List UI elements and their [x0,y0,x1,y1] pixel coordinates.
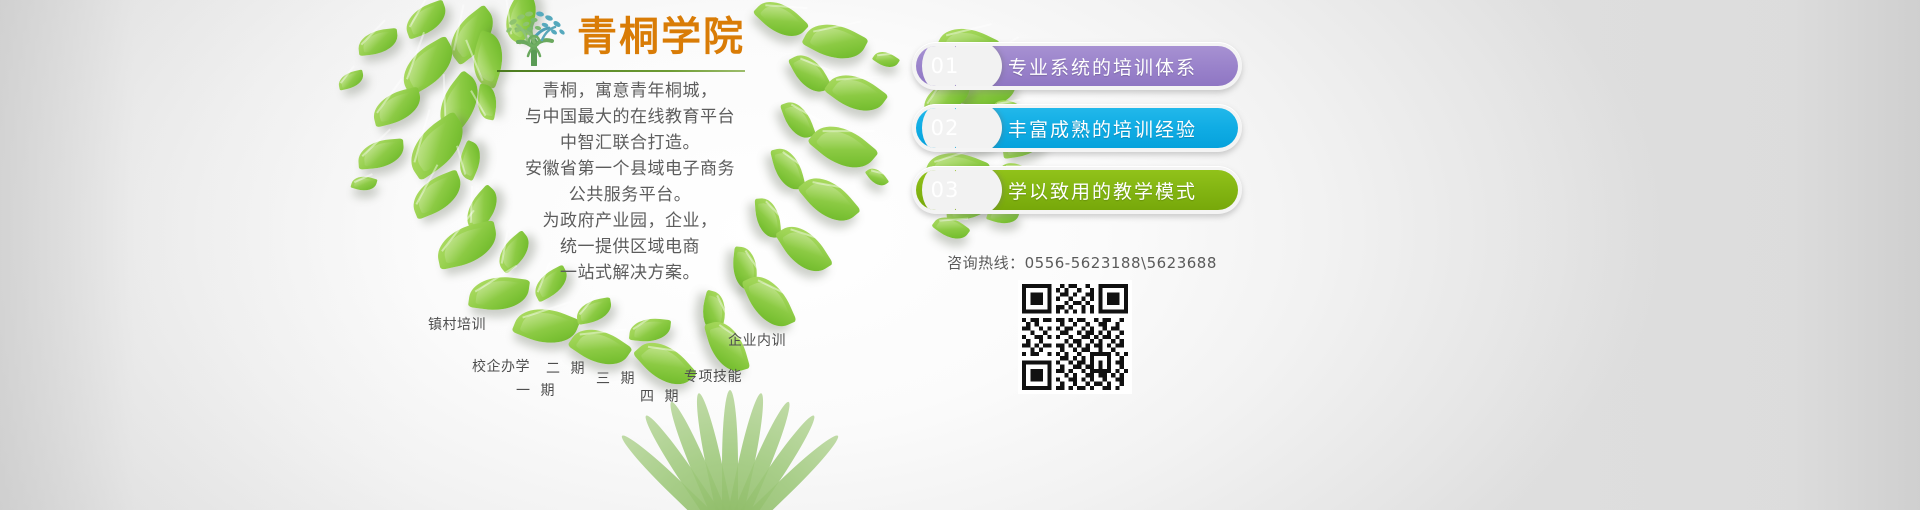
feature-badge-label: 丰富成熟的培训经验 [974,115,1238,142]
caption-special-skills: 专项技能 [684,366,742,386]
qr-code[interactable] [1018,280,1132,394]
caption-town-training: 镇村培训 [428,314,486,334]
feature-badge-inner: 02 丰富成熟的培训经验 [916,108,1238,148]
leaf-icon [350,173,377,194]
feature-badge-inner: 01 专业系统的培训体系 [916,46,1238,86]
caption-school-enterprise: 校企办学 [472,356,530,376]
logo-divider [497,70,745,72]
feature-badge-number: 02 [916,116,974,140]
tree-icon [497,8,571,66]
intro-line: 青桐，寓意青年桐城， [480,78,780,104]
intro-line: 为政府产业园，企业， [480,208,780,234]
intro-line: 公共服务平台。 [480,182,780,208]
intro-line: 安徽省第一个县域电子商务 [480,156,780,182]
caption-enterprise-training: 企业内训 [728,330,786,350]
logo-row: 青桐学院 [497,6,757,68]
banner-stage: 青桐学院 青桐，寓意青年桐城， 与中国最大的在线教育平台 中智汇联合打造。 安徽… [0,0,1920,510]
leaf-icon [865,164,889,190]
leaf-icon [357,28,399,56]
caption-period-3: 三 期 [596,368,637,388]
feature-badge-01[interactable]: 01 专业系统的培训体系 [912,42,1242,90]
intro-line: 中智汇联合打造。 [480,130,780,156]
leaf-icon [369,86,425,127]
intro-line: 一站式解决方案。 [480,260,780,286]
feature-badge-03[interactable]: 03 学以致用的教学模式 [912,166,1242,214]
leaf-icon [337,69,366,90]
intro-line: 统一提供区域电商 [480,234,780,260]
logo-text: 青桐学院 [577,17,745,57]
leaf-icon [775,216,834,282]
feature-badge-number: 01 [916,54,974,78]
hotline-text: 咨询热线：0556-5623188\5623688 [912,252,1252,273]
feature-badge-label: 专业系统的培训体系 [974,53,1238,80]
feature-badge-label: 学以致用的教学模式 [974,177,1238,204]
feature-badge-inner: 03 学以致用的教学模式 [916,170,1238,210]
leaf-icon [406,169,468,220]
caption-period-2: 二 期 [546,358,587,378]
leaf-icon [357,138,405,169]
caption-period-1: 一 期 [516,380,557,400]
brand-logo[interactable]: 青桐学院 [497,6,757,72]
intro-paragraph: 青桐，寓意青年桐城， 与中国最大的在线教育平台 中智汇联合打造。 安徽省第一个县… [480,78,780,286]
feature-badge-list: 01 专业系统的培训体系 02 丰富成熟的培训经验 03 学以致用的教学模式 [912,42,1242,228]
feature-badge-02[interactable]: 02 丰富成熟的培训经验 [912,104,1242,152]
leaf-icon [872,47,900,73]
leaf-icon [401,0,452,40]
feature-badge-number: 03 [916,178,974,202]
leaf-icon [629,316,671,344]
leaf-icon [797,166,861,233]
intro-line: 与中国最大的在线教育平台 [480,104,780,130]
leaf-icon [753,0,810,47]
caption-period-4: 四 期 [640,386,681,406]
leaf-icon [574,297,613,325]
grass-decoration [560,370,900,510]
